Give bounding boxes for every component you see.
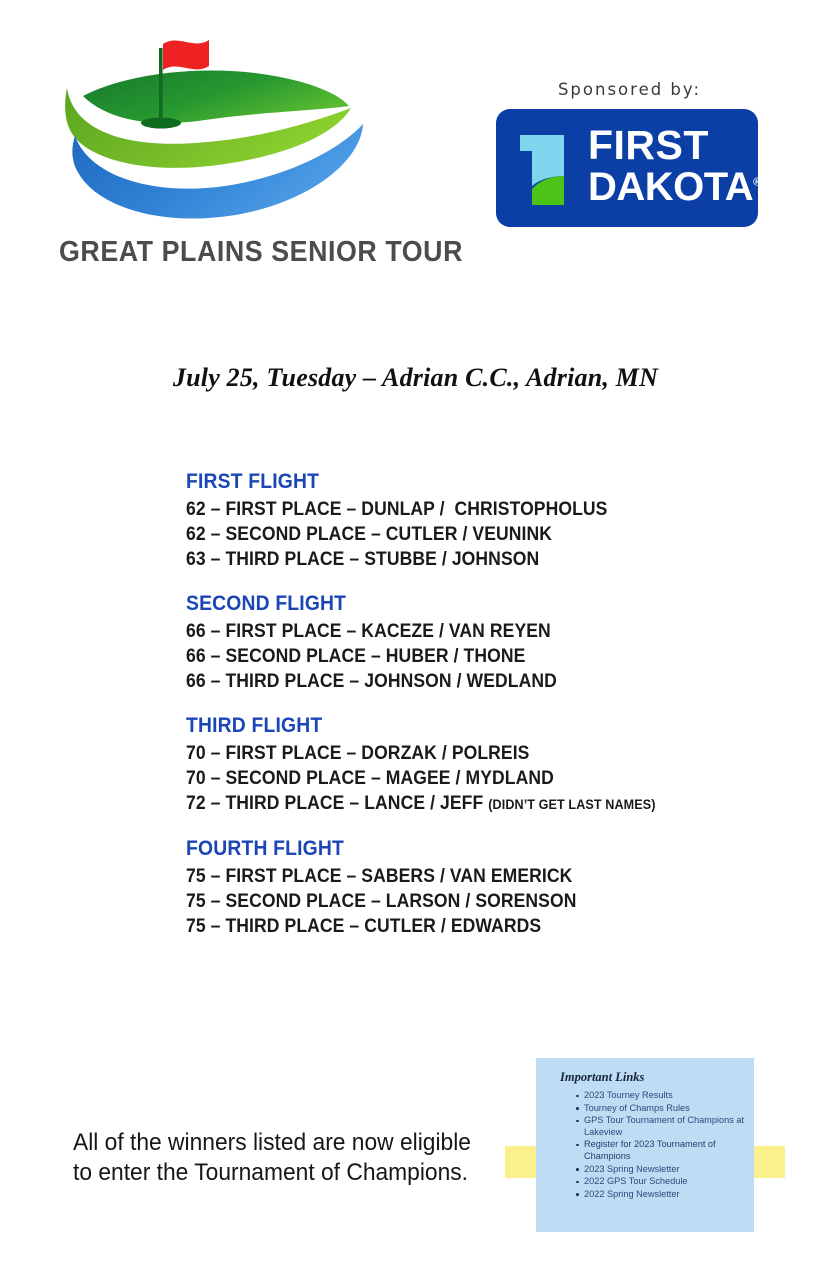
flight-title: FOURTH FLIGHT (186, 837, 701, 861)
flight-title: SECOND FLIGHT (186, 592, 701, 616)
flight-result-line: 63 – THIRD PLACE – STUBBE / JOHNSON (186, 547, 690, 572)
flight-result-line: 62 – SECOND PLACE – CUTLER / VEUNINK (186, 522, 690, 547)
important-link-item[interactable]: Tourney of Champs Rules (576, 1103, 748, 1115)
flight-result-text: 62 – SECOND PLACE – CUTLER / VEUNINK (186, 523, 552, 545)
flight-result-line: 66 – SECOND PLACE – HUBER / THONE (186, 644, 690, 669)
flight-result-line: 70 – SECOND PLACE – MAGEE / MYDLAND (186, 766, 690, 791)
flight-result-text: 66 – THIRD PLACE – JOHNSON / WEDLAND (186, 670, 557, 692)
important-links-widget: Important Links 2023 Tourney ResultsTour… (505, 1056, 795, 1236)
flight-result-line: 62 – FIRST PLACE – DUNLAP / CHRISTOPHOLU… (186, 497, 690, 522)
flight-result-line: 75 – FIRST PLACE – SABERS / VAN EMERICK (186, 864, 690, 889)
important-links-list: 2023 Tourney ResultsTourney of Champs Ru… (550, 1090, 748, 1200)
logo-wordmark: GREAT PLAINS SENIOR TOUR (59, 236, 369, 269)
important-link-item[interactable]: GPS Tour Tournament of Champions at Lake… (576, 1115, 748, 1138)
important-link-item[interactable]: 2023 Tourney Results (576, 1090, 748, 1102)
important-link-item[interactable]: Register for 2023 Tournament of Champion… (576, 1139, 748, 1162)
flight-result-line: 75 – THIRD PLACE – CUTLER / EDWARDS (186, 914, 690, 939)
flight-result-text: 70 – SECOND PLACE – MAGEE / MYDLAND (186, 767, 554, 789)
flight-result-text: 75 – FIRST PLACE – SABERS / VAN EMERICK (186, 865, 572, 887)
flight-title: FIRST FLIGHT (186, 470, 701, 494)
flight-result-text: 66 – SECOND PLACE – HUBER / THONE (186, 645, 525, 667)
registered-mark: ® (753, 176, 761, 188)
sponsor-name-line2: DAKOTA® (588, 168, 748, 207)
sponsored-by-label: Sponsored by: (492, 80, 767, 99)
first-dakota-mark-icon (518, 129, 580, 209)
flight-result-line: 66 – FIRST PLACE – KACEZE / VAN REYEN (186, 619, 690, 644)
great-plains-senior-tour-logo: GREAT PLAINS SENIOR TOUR (55, 28, 395, 278)
first-dakota-sponsor-logo[interactable]: FIRST DAKOTA® (496, 109, 758, 227)
important-links-title: Important Links (560, 1070, 748, 1085)
flight-block: FIRST FLIGHT62 – FIRST PLACE – DUNLAP / … (186, 470, 746, 572)
flight-result-text: 72 – THIRD PLACE – LANCE / JEFF (186, 792, 488, 814)
flight-result-text: 70 – FIRST PLACE – DORZAK / POLREIS (186, 742, 529, 764)
important-links-panel: Important Links 2023 Tourney ResultsTour… (536, 1058, 754, 1232)
flight-block: THIRD FLIGHT70 – FIRST PLACE – DORZAK / … (186, 714, 746, 817)
flight-result-text: 62 – FIRST PLACE – DUNLAP / CHRISTOPHOLU… (186, 498, 607, 520)
flight-result-text: 66 – FIRST PLACE – KACEZE / VAN REYEN (186, 620, 551, 642)
flight-result-text: 75 – THIRD PLACE – CUTLER / EDWARDS (186, 915, 541, 937)
flight-block: SECOND FLIGHT66 – FIRST PLACE – KACEZE /… (186, 592, 746, 694)
flight-title: THIRD FLIGHT (186, 714, 701, 738)
important-link-item[interactable]: 2023 Spring Newsletter (576, 1164, 748, 1176)
flight-result-line: 66 – THIRD PLACE – JOHNSON / WEDLAND (186, 669, 690, 694)
flight-result-line: 70 – FIRST PLACE – DORZAK / POLREIS (186, 741, 690, 766)
flight-result-note: (DIDN’T GET LAST NAMES) (488, 796, 655, 812)
sponsor-block: Sponsored by: FIRST DAKOTA® (490, 80, 770, 227)
flight-result-text: 63 – THIRD PLACE – STUBBE / JOHNSON (186, 548, 539, 570)
first-dakota-wordmark: FIRST DAKOTA® (588, 126, 748, 207)
flight-block: FOURTH FLIGHT75 – FIRST PLACE – SABERS /… (186, 837, 746, 939)
flight-result-line: 72 – THIRD PLACE – LANCE / JEFF (DIDN’T … (186, 791, 690, 817)
flight-result-text: 75 – SECOND PLACE – LARSON / SORENSON (186, 890, 576, 912)
golf-green-flag-icon (55, 28, 375, 228)
results-list: FIRST FLIGHT62 – FIRST PLACE – DUNLAP / … (186, 470, 746, 939)
page-header: GREAT PLAINS SENIOR TOUR Sponsored by: F… (0, 0, 825, 300)
event-heading: July 25, Tuesday – Adrian C.C., Adrian, … (0, 363, 825, 393)
flight-result-line: 75 – SECOND PLACE – LARSON / SORENSON (186, 889, 690, 914)
eligibility-note: All of the winners listed are now eligib… (73, 1128, 472, 1188)
important-link-item[interactable]: 2022 GPS Tour Schedule (576, 1176, 748, 1188)
sponsor-name-line1: FIRST (588, 126, 748, 166)
important-link-item[interactable]: 2022 Spring Newsletter (576, 1189, 748, 1201)
